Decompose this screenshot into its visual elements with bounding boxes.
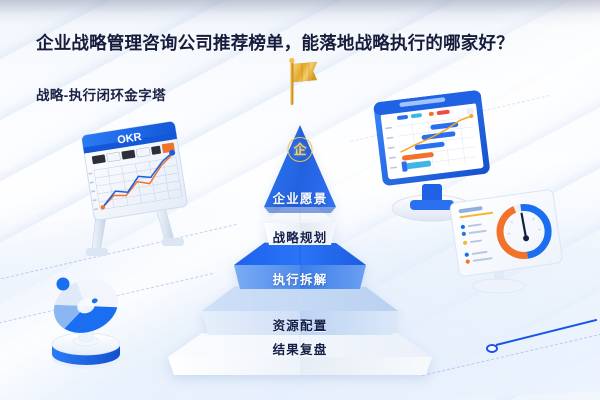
- page-subtitle: 战略-执行闭环金字塔: [36, 84, 166, 104]
- monitor-corner-chip: [466, 108, 474, 115]
- guide-line-right-lower: [423, 329, 600, 376]
- connector-line: [496, 319, 597, 346]
- pyramid-level-5: [168, 333, 432, 375]
- pie-accent-bubble: [57, 278, 70, 291]
- gauge-card-face: [449, 189, 562, 277]
- flag-icon: [272, 55, 328, 111]
- gauge-card: [450, 192, 568, 300]
- enterprise-badge-icon: 企: [288, 137, 313, 162]
- strategy-pyramid: 企 企业愿景 战略规划 执行拆解 资源配置 结果复盘: [168, 95, 432, 375]
- connector-node-icon: [486, 344, 498, 353]
- pie-chart-figure: [28, 262, 146, 378]
- background-top-shade: [0, 0, 600, 26]
- page-title: 企业战略管理咨询公司推荐榜单，能落地战略执行的哪家好？: [36, 30, 514, 55]
- poster-canvas: 企业战略管理咨询公司推荐榜单，能落地战略执行的哪家好？ 战略-执行闭环金字塔: [0, 0, 600, 400]
- pyramid-level-4: [202, 287, 398, 335]
- pyramid-level-3: [234, 243, 366, 289]
